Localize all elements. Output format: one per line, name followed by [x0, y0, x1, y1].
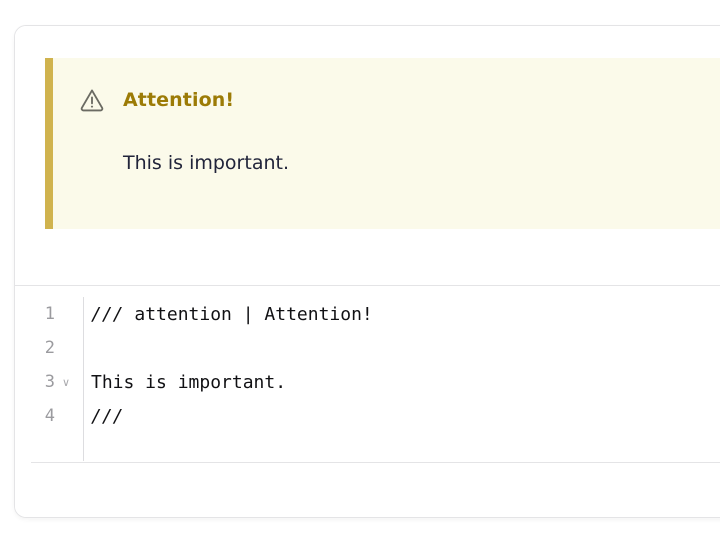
fence-token: /// — [91, 406, 124, 427]
code-line-row[interactable]: 4 /// — [15, 399, 720, 433]
admonition-attention: Attention! This is important. — [45, 58, 720, 229]
line-number: 2 — [15, 338, 55, 358]
fold-marker[interactable]: ∨ — [55, 377, 77, 388]
code-line-row[interactable]: 1 /// attention | Attention! — [15, 297, 720, 331]
admonition-body-text: This is important. — [123, 152, 289, 174]
card-footer — [15, 463, 720, 517]
code-line-row[interactable]: 2 — [15, 331, 720, 365]
admonition-title: Attention! — [123, 89, 234, 111]
fence-token: /// — [91, 304, 124, 325]
code-line-row[interactable]: 3 ∨ This is important. — [15, 365, 720, 399]
code-line-content[interactable]: This is important. — [77, 372, 286, 393]
preview-pane: Attention! This is important. — [15, 26, 720, 285]
code-lines[interactable]: 1 /// attention | Attention! 2 3 ∨ This … — [15, 297, 720, 461]
line-number: 4 — [15, 406, 55, 426]
line-number: 1 — [15, 304, 55, 324]
admonition-title-row: Attention! — [79, 87, 234, 113]
warning-triangle-icon — [79, 87, 105, 113]
source-code-editor[interactable]: 1 /// attention | Attention! 2 3 ∨ This … — [15, 286, 720, 462]
screenshot-stage: Attention! This is important. 1 /// atte… — [0, 0, 720, 544]
code-line-content[interactable]: /// attention | Attention! — [77, 304, 373, 325]
example-card: Attention! This is important. 1 /// atte… — [14, 25, 720, 518]
code-line-content[interactable]: /// — [77, 406, 124, 427]
line-number: 3 — [15, 372, 55, 392]
code-line-text: attention | Attention! — [124, 304, 373, 325]
code-line-text: This is important. — [91, 372, 286, 393]
